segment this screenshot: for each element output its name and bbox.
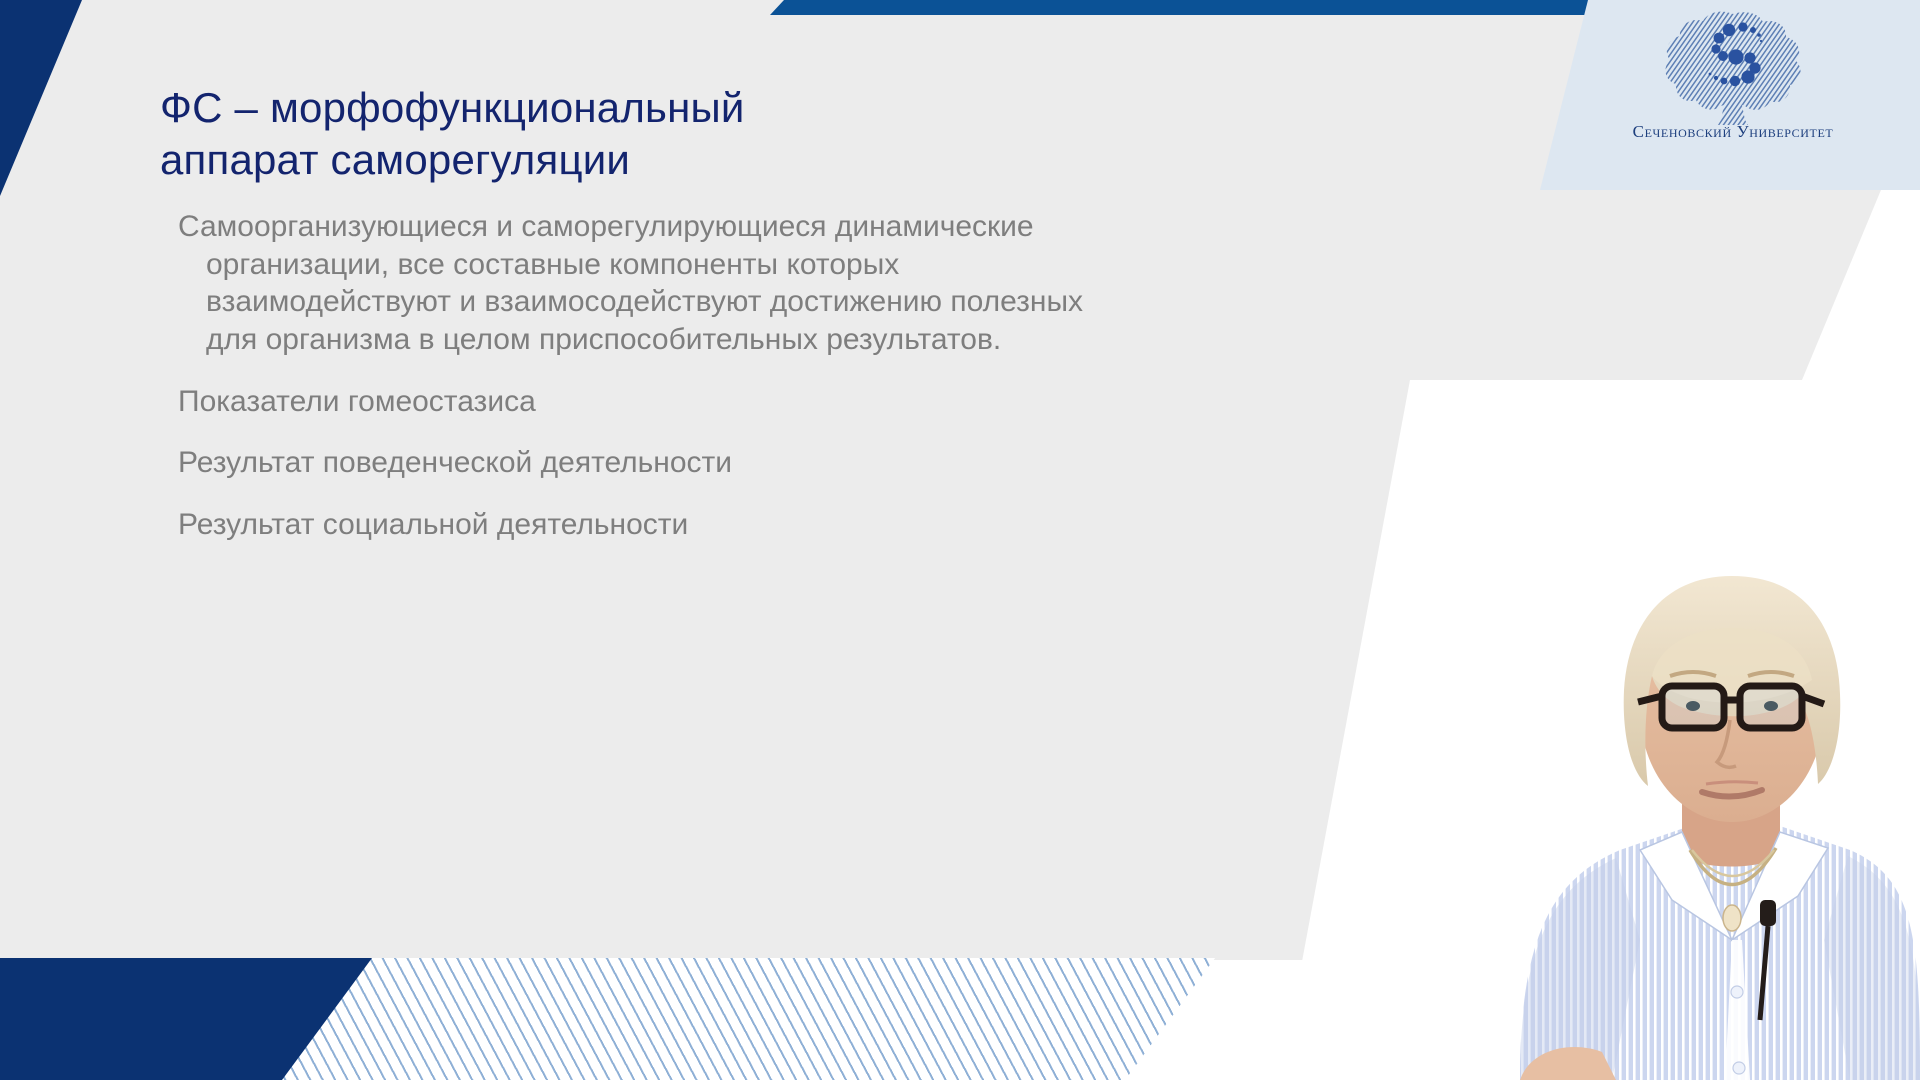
body-paragraph: Самоорганизующиеся и саморегулирующиеся … [178,208,1108,359]
slide-title-line-1: ФС – морфофункциональный [160,82,920,134]
bullet-item-2: Результат поведенческой деятельности [178,444,1108,482]
slide-body: Самоорганизующиеся и саморегулирующиеся … [178,208,1108,543]
bullet-item-1: Показатели гомеостазиса [178,383,1108,421]
logo-wordmark: Сеченовский Университет [1633,122,1834,142]
presenter-figure [1220,380,1920,1080]
presenter-video-overlay [1220,380,1920,1080]
decorative-blue-rule-top [770,0,1615,15]
slide-title: ФС – морфофункциональный аппарат саморег… [160,82,920,185]
sechenov-tree-logo-icon [1653,8,1813,126]
slide-stage: Сеченовский Университет ФС – морфофункци… [0,0,1920,1080]
university-logo: Сеченовский Университет [1568,8,1898,180]
bullet-item-3: Результат социальной деятельности [178,506,1108,544]
slide-title-line-2: аппарат саморегуляции [160,134,920,186]
body-paragraph-text: Самоорганизующиеся и саморегулирующиеся … [178,210,1083,356]
